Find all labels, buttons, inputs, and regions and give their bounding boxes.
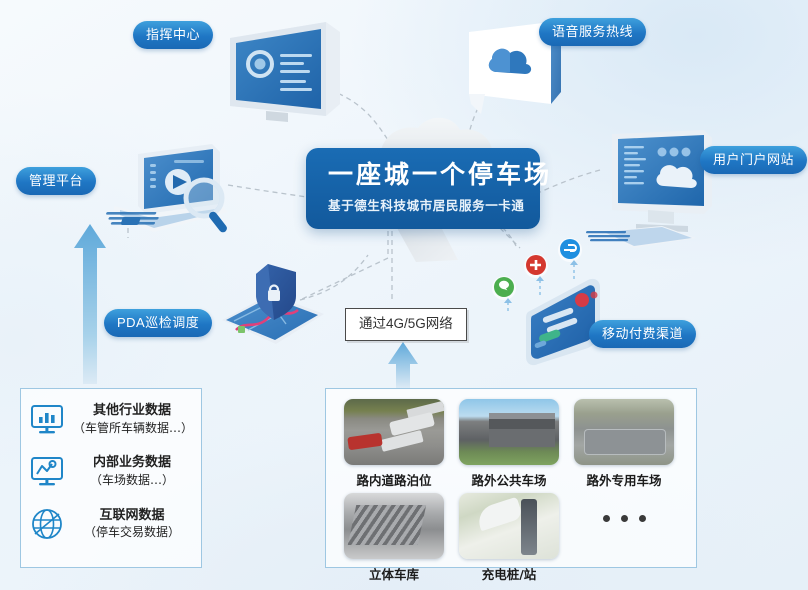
data-source-item[interactable]: 内部业务数据 （车场数据…） [21,454,201,488]
infographic-canvas: 指挥中心 语音服务热线 用户门户网站 管理平台 PDA巡检调度 移动付费渠道 通… [0,0,808,590]
scenario-card-grid: 路内道路泊位 路外公共车场 路外专用车场 立体车库 充电桩/站 [326,389,696,587]
scenario-more [570,493,678,583]
isometric-tablet-shield-lock-icon [212,258,337,358]
ellipsis-dots-icon [570,515,678,522]
label-user-portal-text: 用户门户网站 [713,152,794,167]
label-voice-hotline-text: 语音服务热线 [552,24,633,39]
scenario-card[interactable]: 立体车库 [340,493,448,583]
center-banner: 一座城一个停车场 基于德生科技城市居民服务一卡通 [306,148,540,229]
scenario-caption: 立体车库 [340,564,448,583]
label-pda-patrol-text: PDA巡检调度 [117,315,199,330]
monitor-line-chart-icon [21,456,73,487]
data-source-title: 互联网数据 [73,507,191,525]
globe-network-icon [21,507,73,541]
scenario-card[interactable]: 路外专用车场 [570,399,678,489]
scenario-photo-charging [459,493,559,559]
banner-title: 一座城一个停车场 [328,162,518,188]
label-command-center-text: 指挥中心 [146,27,200,42]
scenario-card[interactable]: 路外公共车场 [455,399,563,489]
isometric-laptop-magnifier-icon [96,140,241,255]
isometric-monitor-gear-icon [218,16,348,136]
scenario-card[interactable]: 路内道路泊位 [340,399,448,489]
scenario-caption: 路内道路泊位 [340,470,448,489]
scenario-caption: 充电桩/站 [455,564,563,583]
scenario-photo-street [344,399,444,465]
data-source-detail: （车管所车辆数据…） [73,420,191,437]
data-source-text: 其他行业数据 （车管所车辆数据…） [73,402,201,436]
network-up-arrow [385,340,421,390]
scenarios-panel: 路内道路泊位 路外公共车场 路外专用车场 立体车库 充电桩/站 [325,388,697,568]
scenario-caption: 路外专用车场 [570,470,678,489]
label-management-platform-text: 管理平台 [29,173,83,188]
label-command-center[interactable]: 指挥中心 [133,21,213,49]
label-user-portal[interactable]: 用户门户网站 [700,146,807,174]
scenario-photo-public-lot [459,399,559,465]
data-source-item[interactable]: 其他行业数据 （车管所车辆数据…） [21,402,201,436]
data-source-detail: （停车交易数据） [73,524,191,541]
label-mobile-payment-text: 移动付费渠道 [602,326,683,341]
network-label-box: 通过4G/5G网络 [345,308,467,341]
data-source-item[interactable]: 互联网数据 （停车交易数据） [21,507,201,541]
label-pda-patrol[interactable]: PDA巡检调度 [104,309,212,337]
label-voice-hotline[interactable]: 语音服务热线 [539,18,646,46]
data-source-title: 内部业务数据 [73,454,191,472]
data-source-title: 其他行业数据 [73,402,191,420]
data-source-detail: （车场数据…） [73,472,191,489]
scenario-photo-multistorey [344,493,444,559]
network-label-text: 通过4G/5G网络 [359,316,453,331]
data-source-text: 内部业务数据 （车场数据…） [73,454,201,488]
data-sources-panel: 其他行业数据 （车管所车辆数据…） 内部业务数据 （车场数据…） [20,388,202,568]
label-management-platform[interactable]: 管理平台 [16,167,96,195]
label-mobile-payment[interactable]: 移动付费渠道 [589,320,696,348]
data-source-text: 互联网数据 （停车交易数据） [73,507,201,541]
banner-subtitle: 基于德生科技城市居民服务一卡通 [328,195,518,214]
scenario-caption: 路外公共车场 [455,470,563,489]
scenario-photo-private-lot [574,399,674,465]
monitor-bar-chart-icon [21,404,73,435]
scenario-card[interactable]: 充电桩/站 [455,493,563,583]
